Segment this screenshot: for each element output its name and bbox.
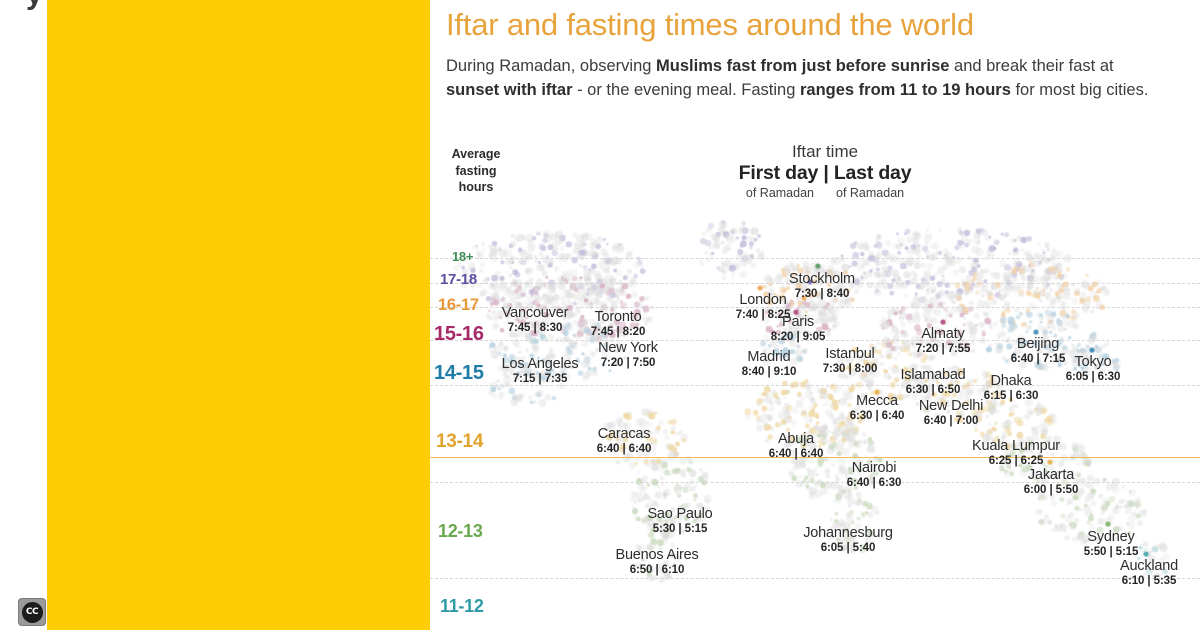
standfirst-text: During Ramadan, observing Muslims fast f…	[446, 55, 1158, 103]
city-label[interactable]: Sydney5:50 | 5:15	[1084, 530, 1139, 560]
gridline-6	[430, 578, 1200, 579]
city-name: Abuja	[769, 432, 824, 447]
city-iftar-times: 6:40 | 6:40	[597, 442, 652, 456]
city-label[interactable]: Tokyo6:05 | 6:30	[1066, 355, 1121, 385]
city-label[interactable]: Jakarta6:00 | 5:50	[1024, 468, 1079, 498]
city-name: Madrid	[742, 350, 797, 365]
city-iftar-times: 6:50 | 6:10	[615, 563, 698, 577]
standfirst-emphasis: sunset with iftar	[446, 81, 573, 99]
city-label[interactable]: Almaty7:20 | 7:55	[916, 327, 971, 357]
city-iftar-times: 7:20 | 7:55	[916, 342, 971, 356]
legend-band-16-17[interactable]: 16-17	[438, 296, 479, 315]
city-name: London	[736, 293, 791, 308]
city-iftar-times: 7:45 | 8:30	[502, 321, 568, 335]
city-iftar-times: 6:05 | 5:40	[803, 541, 893, 555]
city-iftar-times: 6:40 | 7:00	[919, 414, 983, 428]
city-name: Sydney	[1084, 530, 1139, 545]
city-label[interactable]: Johannesburg6:05 | 5:40	[803, 526, 893, 556]
legend-band-15-16[interactable]: 15-16	[434, 323, 484, 346]
creative-commons-icon: CC	[18, 598, 46, 626]
city-name: Mecca	[850, 394, 905, 409]
city-name: Tokyo	[1066, 355, 1121, 370]
city-iftar-times: 6:30 | 6:50	[900, 383, 965, 397]
city-iftar-times: 8:20 | 9:05	[771, 330, 826, 344]
city-label[interactable]: Beijing6:40 | 7:15	[1011, 337, 1066, 367]
standfirst-run: and break their fast at	[949, 57, 1113, 75]
city-iftar-times: 6:30 | 6:40	[850, 409, 905, 423]
city-label[interactable]: Auckland6:10 | 5:35	[1120, 559, 1178, 589]
city-label[interactable]: New Delhi6:40 | 7:00	[919, 399, 983, 429]
city-name: Beijing	[1011, 337, 1066, 352]
city-iftar-times: 5:30 | 5:15	[647, 522, 712, 536]
standfirst-emphasis: ranges from 11 to 19 hours	[800, 81, 1011, 99]
cc-ring: CC	[22, 602, 43, 623]
city-label[interactable]: Dhaka6:15 | 6:30	[984, 374, 1039, 404]
city-label[interactable]: Kuala Lumpur6:25 | 6:25	[972, 439, 1060, 469]
iftar-time-header: Iftar time First day | Last day of Ramad…	[690, 142, 960, 200]
city-name: Buenos Aires	[615, 548, 698, 563]
iftar-time-title: Iftar time	[690, 142, 960, 162]
avg-line-1: Average	[438, 146, 514, 163]
legend-band-13-14[interactable]: 13-14	[436, 431, 483, 453]
legend-band-12-13[interactable]: 12-13	[438, 521, 483, 542]
avg-line-2: fasting	[438, 163, 514, 180]
standfirst-run: - or the evening meal. Fasting	[573, 81, 800, 99]
city-name: New Delhi	[919, 399, 983, 414]
city-label[interactable]: Toronto7:45 | 8:20	[591, 310, 646, 340]
city-label[interactable]: Abuja6:40 | 6:40	[769, 432, 824, 462]
cropped-title-fragment: y	[26, 0, 42, 12]
city-name: Istanbul	[823, 347, 878, 362]
legend-band-18plus[interactable]: 18+	[452, 249, 473, 264]
world-map: 18+17-1816-1715-1614-1513-1412-1311-12 V…	[430, 210, 1200, 630]
city-name: Kuala Lumpur	[972, 439, 1060, 454]
city-iftar-times: 6:05 | 6:30	[1066, 370, 1121, 384]
last-day-sub: of Ramadan	[836, 186, 904, 200]
city-iftar-times: 7:30 | 8:00	[823, 362, 878, 376]
city-label[interactable]: Los Angeles7:15 | 7:35	[502, 357, 579, 387]
legend-band-11-12[interactable]: 11-12	[440, 596, 484, 617]
city-name: Dhaka	[984, 374, 1039, 389]
city-label[interactable]: Madrid8:40 | 9:10	[742, 350, 797, 380]
city-iftar-times: 6:40 | 7:15	[1011, 352, 1066, 366]
standfirst-run: for most big cities.	[1011, 81, 1149, 99]
city-label[interactable]: Vancouver7:45 | 8:30	[502, 306, 568, 336]
city-iftar-times: 6:40 | 6:40	[769, 447, 824, 461]
city-label[interactable]: Nairobi6:40 | 6:30	[847, 461, 902, 491]
legend-band-17-18[interactable]: 17-18	[440, 271, 477, 288]
first-day-sub: of Ramadan	[746, 186, 814, 200]
standfirst-emphasis: Muslims fast from just before sunrise	[656, 57, 949, 75]
city-label[interactable]: Istanbul7:30 | 8:00	[823, 347, 878, 377]
city-name: New York	[598, 341, 658, 356]
city-name: Sao Paulo	[647, 507, 712, 522]
yellow-color-block	[47, 0, 430, 630]
city-label[interactable]: Islamabad6:30 | 6:50	[900, 368, 965, 398]
city-name: Jakarta	[1024, 468, 1079, 483]
city-iftar-times: 7:45 | 8:20	[591, 325, 646, 339]
iftar-days-title: First day | Last day	[690, 162, 960, 185]
city-label[interactable]: New York7:20 | 7:50	[598, 341, 658, 371]
city-name: Vancouver	[502, 306, 568, 321]
city-iftar-times: 6:15 | 6:30	[984, 389, 1039, 403]
gridline-5	[430, 482, 1200, 483]
infographic-content: Iftar and fasting times around the world…	[430, 0, 1200, 630]
city-iftar-times: 7:15 | 7:35	[502, 372, 579, 386]
city-name: Paris	[771, 315, 826, 330]
city-name: Nairobi	[847, 461, 902, 476]
city-label[interactable]: Buenos Aires6:50 | 6:10	[615, 548, 698, 578]
city-iftar-times: 6:10 | 5:35	[1120, 574, 1178, 588]
city-name: Islamabad	[900, 368, 965, 383]
standfirst-run: During Ramadan, observing	[446, 57, 656, 75]
city-name: Toronto	[591, 310, 646, 325]
city-iftar-times: 7:30 | 8:40	[789, 287, 855, 301]
city-iftar-times: 7:20 | 7:50	[598, 356, 658, 370]
cc-label: CC	[26, 607, 38, 617]
gridline-0	[430, 258, 1200, 259]
page-title: Iftar and fasting times around the world	[446, 6, 1188, 45]
city-name: Auckland	[1120, 559, 1178, 574]
legend-band-14-15[interactable]: 14-15	[434, 362, 484, 385]
left-branding-panel: y CC	[0, 0, 430, 630]
city-name: Stockholm	[789, 272, 855, 287]
iftar-days-sub: of Ramadan of Ramadan	[690, 186, 960, 200]
city-label[interactable]: Paris8:20 | 9:05	[771, 315, 826, 345]
city-name: Johannesburg	[803, 526, 893, 541]
city-iftar-times: 6:00 | 5:50	[1024, 483, 1079, 497]
city-name: Caracas	[597, 427, 652, 442]
city-iftar-times: 8:40 | 9:10	[742, 365, 797, 379]
city-label[interactable]: Stockholm7:30 | 8:40	[789, 272, 855, 302]
city-name: Almaty	[916, 327, 971, 342]
city-label[interactable]: Mecca6:30 | 6:40	[850, 394, 905, 424]
city-label[interactable]: Sao Paulo5:30 | 5:15	[647, 507, 712, 537]
avg-line-3: hours	[438, 179, 514, 196]
average-fasting-hours-header: Average fasting hours	[438, 146, 514, 196]
city-label[interactable]: Caracas6:40 | 6:40	[597, 427, 652, 457]
city-iftar-times: 6:40 | 6:30	[847, 476, 902, 490]
city-name: Los Angeles	[502, 357, 579, 372]
